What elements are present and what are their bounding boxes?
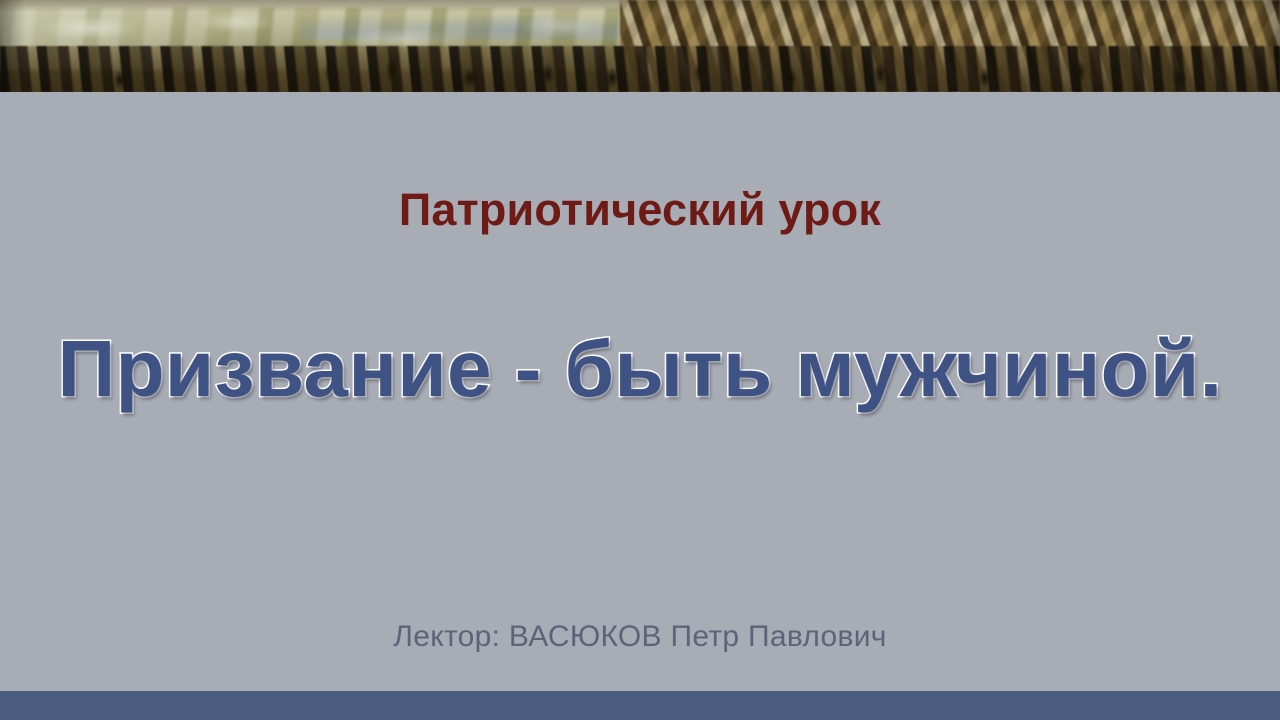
presentation-slide: Патриотический урок Призвание - быть муж…: [0, 0, 1280, 720]
slide-subtitle: Патриотический урок: [0, 186, 1280, 233]
battle-painting-banner: [0, 0, 1280, 92]
slide-title: Призвание - быть мужчиной.: [0, 327, 1280, 411]
lecturer-credit: Лектор: ВАСЮКОВ Петр Павлович: [0, 620, 1280, 653]
banner-vignette-overlay: [0, 0, 1280, 92]
bottom-accent-bar: [0, 691, 1280, 720]
